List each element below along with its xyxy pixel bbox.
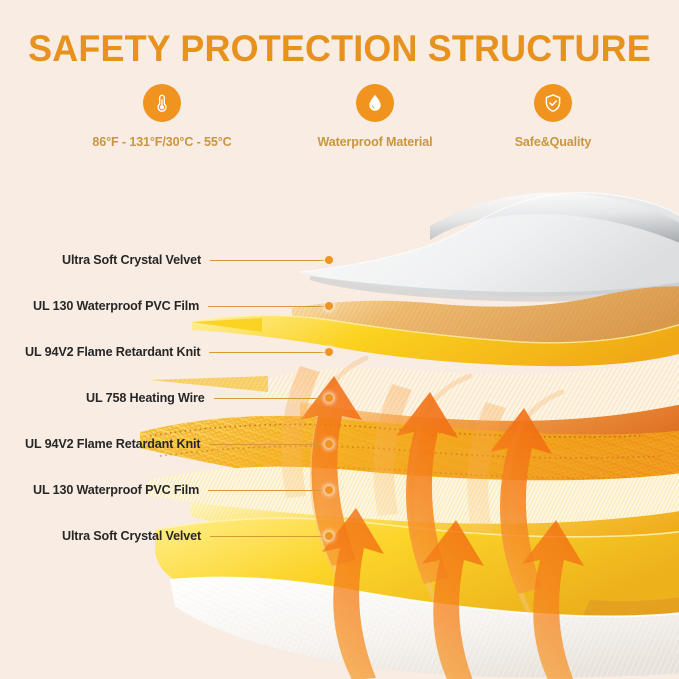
- leader-line: [208, 490, 326, 491]
- feature-temperature-label: 86°F - 131°F/30°C - 55°C: [92, 135, 231, 149]
- header-section: SAFETY PROTECTION STRUCTURE 86°F - 131°F…: [0, 0, 679, 180]
- leader-line: [209, 444, 326, 445]
- feature-badge-list: 86°F - 131°F/30°C - 55°C Waterproof Mate…: [62, 84, 618, 149]
- callout-label: UL 94V2 Flame Retardant Knit: [25, 345, 200, 359]
- feature-safe-quality: Safe&Quality: [488, 84, 618, 149]
- layer-callout-list: Ultra Soft Crystal Velvet UL 130 Waterpr…: [0, 180, 679, 679]
- leader-dot: [325, 394, 333, 402]
- callout-label: UL 758 Heating Wire: [86, 391, 205, 405]
- callout-layer-5: UL 94V2 Flame Retardant Knit: [25, 435, 333, 453]
- feature-waterproof: Waterproof Material: [295, 84, 455, 149]
- leader-line: [208, 306, 326, 307]
- leader-line: [210, 536, 326, 537]
- callout-label: Ultra Soft Crystal Velvet: [62, 253, 201, 267]
- callout-label: UL 130 Waterproof PVC Film: [33, 483, 199, 497]
- leader-line: [214, 398, 326, 399]
- shield-check-icon: [534, 84, 572, 122]
- leader-dot: [325, 486, 333, 494]
- feature-temperature: 86°F - 131°F/30°C - 55°C: [62, 84, 262, 149]
- water-drop-icon: [356, 84, 394, 122]
- leader-dot: [325, 256, 333, 264]
- leader-dot: [325, 302, 333, 310]
- feature-safe-quality-label: Safe&Quality: [515, 135, 592, 149]
- callout-layer-6: UL 130 Waterproof PVC Film: [33, 481, 333, 499]
- feature-waterproof-label: Waterproof Material: [317, 135, 432, 149]
- leader-line: [210, 260, 326, 261]
- leader-dot: [325, 440, 333, 448]
- leader-line: [209, 352, 326, 353]
- callout-layer-7: Ultra Soft Crystal Velvet: [62, 527, 333, 545]
- safety-protection-structure-infographic: SAFETY PROTECTION STRUCTURE 86°F - 131°F…: [0, 0, 679, 679]
- leader-dot: [325, 532, 333, 540]
- callout-label: UL 130 Waterproof PVC Film: [33, 299, 199, 313]
- callout-label: UL 94V2 Flame Retardant Knit: [25, 437, 200, 451]
- callout-layer-3: UL 94V2 Flame Retardant Knit: [25, 343, 333, 361]
- callout-layer-1: Ultra Soft Crystal Velvet: [62, 251, 333, 269]
- callout-layer-4: UL 758 Heating Wire: [86, 389, 333, 407]
- page-title: SAFETY PROTECTION STRUCTURE: [10, 28, 669, 70]
- callout-label: Ultra Soft Crystal Velvet: [62, 529, 201, 543]
- thermometer-icon: [143, 84, 181, 122]
- leader-dot: [325, 348, 333, 356]
- callout-layer-2: UL 130 Waterproof PVC Film: [33, 297, 333, 315]
